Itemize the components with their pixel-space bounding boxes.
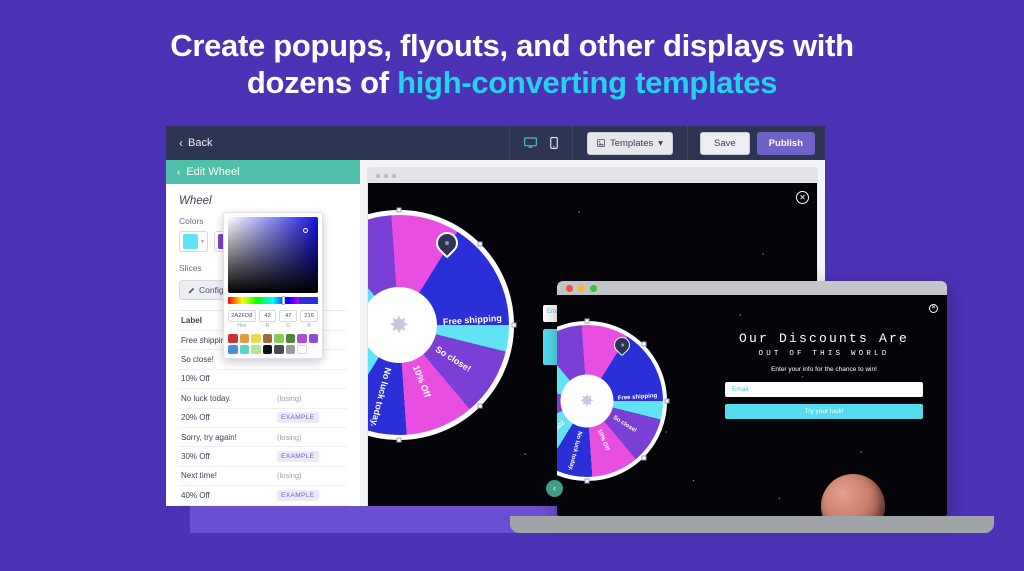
back-button-label: Back — [188, 137, 212, 149]
table-row[interactable]: 40% OffEXAMPLE — [179, 486, 347, 505]
slice-label: No luck today. — [181, 394, 277, 403]
color-gradient-area[interactable] — [228, 217, 318, 293]
slice-label: 10% Off — [181, 374, 277, 383]
headline-line-2: dozens of high-converting templates — [0, 65, 1024, 102]
palette-swatch[interactable] — [286, 334, 296, 343]
preview-browser-chrome — [368, 168, 817, 183]
losing-label: (losing) — [277, 471, 302, 480]
star-hub-icon: ✸ — [580, 391, 594, 411]
slice-label: Sorry, try again! — [181, 433, 277, 442]
headline-prefix: dozens of — [247, 65, 397, 100]
palette-swatch[interactable] — [228, 334, 238, 343]
color-value-fields: 2A2FD8 Hex 42 R 47 G 216 — [228, 310, 318, 329]
close-icon[interactable]: ✕ — [929, 304, 938, 313]
sidebar-header[interactable]: ‹ Edit Wheel — [166, 160, 360, 184]
email-field[interactable]: Email — [725, 382, 923, 397]
palette-swatch[interactable] — [274, 334, 284, 343]
table-row[interactable]: Next time!(losing) — [179, 467, 347, 486]
hex-field-group: 2A2FD8 Hex — [228, 310, 256, 329]
status-badge: EXAMPLE — [277, 490, 319, 501]
headline-accent: high-converting templates — [397, 65, 777, 100]
resize-handle[interactable] — [665, 399, 670, 404]
close-traffic-light[interactable] — [566, 285, 573, 292]
resize-handle[interactable] — [641, 342, 646, 347]
chevron-left-icon: ‹ — [179, 137, 183, 149]
collapse-sidebar-button[interactable]: ‹ — [546, 480, 563, 497]
blue-field-group: 216 B — [300, 310, 318, 329]
green-field-group: 47 G — [279, 310, 297, 329]
sidebar-header-label: Edit Wheel — [186, 166, 239, 178]
palette-swatch[interactable] — [228, 345, 238, 354]
spin-wheel[interactable]: Free shippingSo close!10% OffNo luck tod… — [368, 210, 514, 440]
table-row[interactable]: 30% OffEXAMPLE — [179, 447, 347, 466]
templates-zone: Templates ▾ — [572, 126, 687, 160]
laptop-screen: ✕ Free shippingSo close!10% OffNo luck t… — [557, 281, 947, 516]
image-icon — [597, 139, 605, 147]
editor-toolbar: ‹ Back Templates ▾ — [166, 126, 825, 160]
minimize-traffic-light[interactable] — [578, 285, 585, 292]
palette-swatch[interactable] — [286, 345, 296, 354]
popup-description: Enter your info for the chance to win! — [725, 366, 923, 373]
device-switcher — [509, 126, 572, 160]
try-your-luck-button[interactable]: Try your luck! — [725, 404, 923, 419]
green-input[interactable]: 47 — [279, 310, 297, 322]
color-picker-popover[interactable]: 2A2FD8 Hex 42 R 47 G 216 — [223, 212, 323, 359]
laptop-screen-content: ✕ Free shippingSo close!10% OffNo luck t… — [557, 295, 947, 516]
laptop-browser-chrome — [557, 281, 947, 295]
hex-input[interactable]: 2A2FD8 — [228, 310, 256, 322]
page-root: Create popups, flyouts, and other displa… — [0, 0, 1024, 571]
slice-label: Next time! — [181, 471, 277, 480]
resize-handle[interactable] — [478, 404, 483, 409]
slice-label: 30% Off — [181, 452, 277, 461]
table-row[interactable]: 10% Off — [179, 370, 347, 389]
browser-dot — [392, 174, 396, 178]
table-row[interactable]: 20% OffEXAMPLE — [179, 409, 347, 428]
close-icon[interactable]: ✕ — [796, 191, 809, 204]
discount-popup: Our Discounts Are OUT OF THIS WORLD Ente… — [725, 331, 923, 419]
resize-handle[interactable] — [641, 455, 646, 460]
hex-caption: Hex — [228, 323, 256, 329]
status-badge: EXAMPLE — [277, 451, 319, 462]
headline-line-1: Create popups, flyouts, and other displa… — [0, 28, 1024, 65]
panel-title: Wheel — [179, 195, 347, 207]
laptop-mockup: ✕ Free shippingSo close!10% OffNo luck t… — [557, 281, 947, 516]
palette-swatch[interactable] — [263, 345, 273, 354]
wheel-hub: ✸ — [561, 375, 614, 428]
popup-title: Our Discounts Are — [725, 331, 923, 346]
mobile-icon[interactable] — [550, 137, 558, 149]
color-swatch-1[interactable]: ▾ — [179, 231, 208, 252]
chevron-left-icon: ‹ — [177, 167, 180, 178]
popup-subtitle: OUT OF THIS WORLD — [725, 350, 923, 358]
resize-handle[interactable] — [478, 241, 483, 246]
resize-handle[interactable] — [585, 479, 590, 484]
losing-label: (losing) — [277, 433, 302, 442]
chevron-down-icon: ▾ — [201, 238, 204, 245]
resize-handle[interactable] — [397, 208, 402, 213]
toolbar-right-group: Templates ▾ Save Publish — [509, 126, 825, 160]
palette-swatch[interactable] — [297, 334, 307, 343]
resize-handle[interactable] — [397, 438, 402, 443]
table-row[interactable]: No luck today.(losing) — [179, 389, 347, 408]
actions-zone: Save Publish — [687, 126, 825, 160]
table-row[interactable]: Sorry, try again!(losing) — [179, 428, 347, 447]
palette-swatch[interactable] — [251, 345, 261, 354]
pencil-icon — [188, 287, 195, 294]
templates-button[interactable]: Templates ▾ — [587, 132, 673, 155]
losing-label: (losing) — [277, 394, 302, 403]
back-button[interactable]: ‹ Back — [179, 137, 212, 149]
templates-button-label: Templates — [610, 138, 653, 149]
laptop-base — [510, 516, 994, 533]
spin-wheel[interactable]: Free shippingSo close!10% OffNo luck tod… — [557, 321, 667, 481]
palette-swatch[interactable] — [309, 334, 319, 343]
palette-swatch[interactable] — [274, 345, 284, 354]
hue-slider-knob[interactable] — [282, 296, 285, 305]
status-badge: EXAMPLE — [277, 412, 319, 423]
palette-swatch[interactable] — [240, 334, 250, 343]
blue-caption: B — [300, 323, 318, 329]
red-input[interactable]: 42 — [259, 310, 277, 322]
palette-swatch[interactable] — [251, 334, 261, 343]
color-cursor-icon[interactable] — [303, 228, 308, 233]
page-title: Create popups, flyouts, and other displa… — [0, 28, 1024, 101]
star-hub-icon: ✸ — [389, 311, 409, 340]
maximize-traffic-light[interactable] — [590, 285, 597, 292]
red-field-group: 42 R — [259, 310, 277, 329]
slice-label: 40% Off — [181, 491, 277, 500]
save-button[interactable]: Save — [700, 132, 750, 155]
palette-swatch[interactable] — [263, 334, 273, 343]
edit-wheel-sidebar: ‹ Edit Wheel Wheel Colors ▾▾▾▾ Slices Co… — [166, 160, 360, 506]
red-caption: R — [259, 323, 277, 329]
browser-dot — [376, 174, 380, 178]
browser-dot — [384, 174, 388, 178]
color-chip — [183, 234, 198, 249]
chevron-down-icon: ▾ — [658, 138, 663, 149]
palette-swatch[interactable] — [240, 345, 250, 354]
blue-input[interactable]: 216 — [300, 310, 318, 322]
palette-swatch[interactable] — [297, 345, 307, 354]
monitor-icon[interactable] — [524, 137, 537, 149]
preset-palette — [228, 334, 318, 354]
publish-button[interactable]: Publish — [757, 132, 815, 155]
resize-handle[interactable] — [512, 323, 517, 328]
green-caption: G — [279, 323, 297, 329]
current-color-preview — [299, 297, 318, 304]
slice-label: 20% Off — [181, 413, 277, 422]
resize-handle[interactable] — [585, 319, 590, 324]
